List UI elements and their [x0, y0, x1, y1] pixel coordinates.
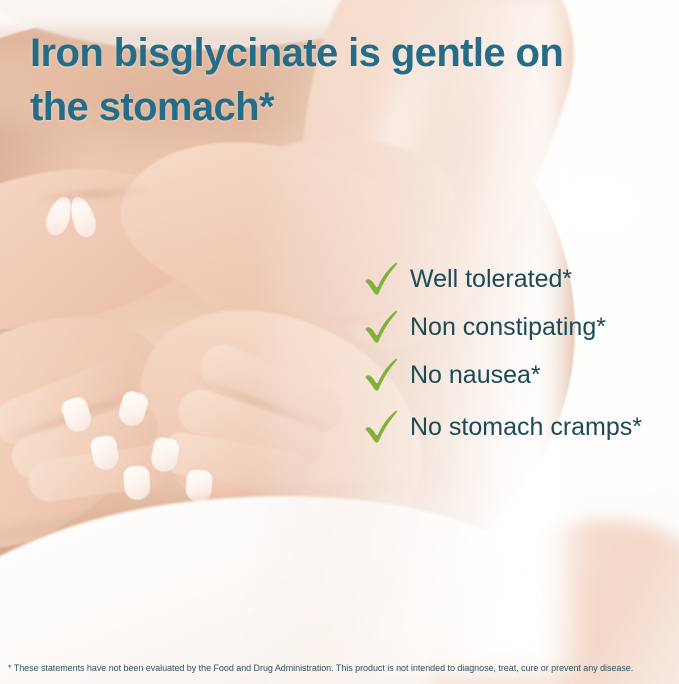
benefits-list: Well tolerated* Non constipating* No nau… — [362, 256, 674, 452]
product-benefit-poster: Iron bisglycinate is gentle on the stoma… — [0, 0, 679, 684]
list-item-label: No nausea* — [410, 363, 541, 388]
list-item: No stomach cramps* — [362, 404, 674, 450]
list-item: Non constipating* — [362, 304, 674, 350]
check-icon — [362, 259, 402, 299]
check-icon — [362, 407, 402, 447]
fda-disclaimer: * These statements have not been evaluat… — [8, 662, 673, 674]
list-item: No nausea* — [362, 352, 674, 398]
list-item-label: No stomach cramps* — [410, 415, 642, 440]
page-title: Iron bisglycinate is gentle on the stoma… — [30, 26, 650, 134]
check-icon — [362, 355, 402, 395]
headline-line-2: the stomach* — [30, 80, 650, 134]
list-item: Well tolerated* — [362, 256, 674, 302]
list-item-label: Well tolerated* — [410, 267, 572, 292]
list-item-label: Non constipating* — [410, 315, 606, 340]
headline-line-1: Iron bisglycinate is gentle on — [30, 26, 650, 80]
check-icon — [362, 307, 402, 347]
fingernail-l3 — [123, 465, 151, 501]
